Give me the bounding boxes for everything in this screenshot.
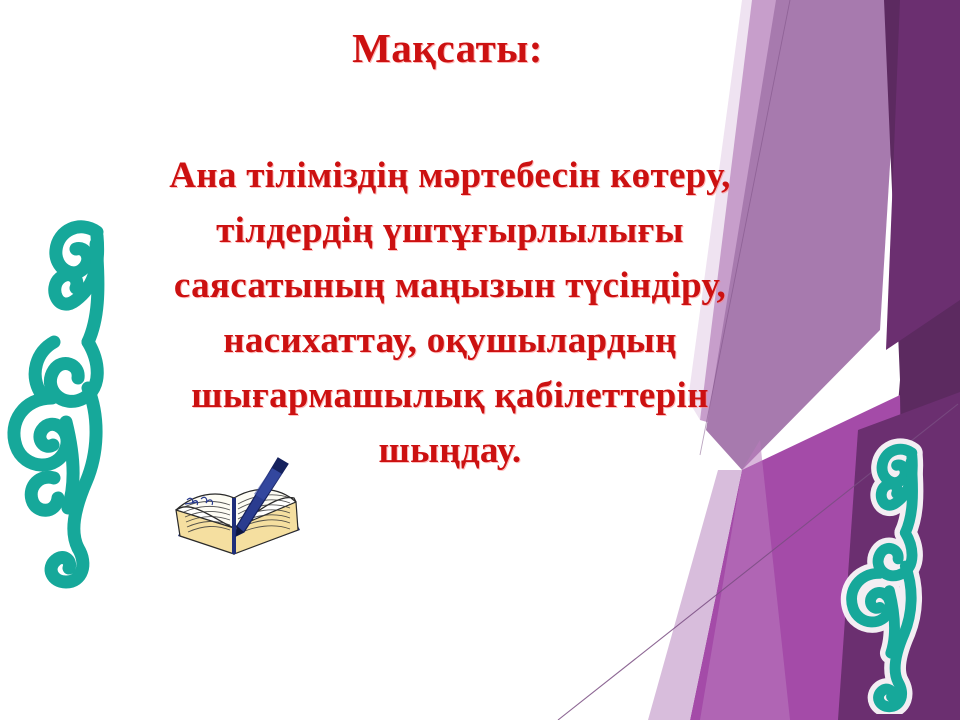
- slide-body-text: Ана тіліміздің мәртебесін көтеру, тілдер…: [0, 148, 900, 478]
- body-line: насихаттау, оқушылардың: [0, 313, 900, 368]
- body-line: тілдердің үштұғырлылығы: [0, 203, 900, 258]
- body-line: саясатының маңызын түсіндіру,: [0, 258, 900, 313]
- bg-shape-pale-mid: [700, 440, 790, 720]
- body-line: Ана тіліміздің мәртебесін көтеру,: [0, 148, 900, 203]
- body-line: шығармашылық қабілеттерін: [0, 368, 900, 423]
- presentation-slide: Мақсаты: Ана тіліміздің мәртебесін көтер…: [0, 0, 960, 720]
- bg-shape-pale-lower: [648, 470, 742, 720]
- page-title: Мақсаты:: [0, 24, 895, 72]
- body-line: шыңдау.: [0, 423, 900, 478]
